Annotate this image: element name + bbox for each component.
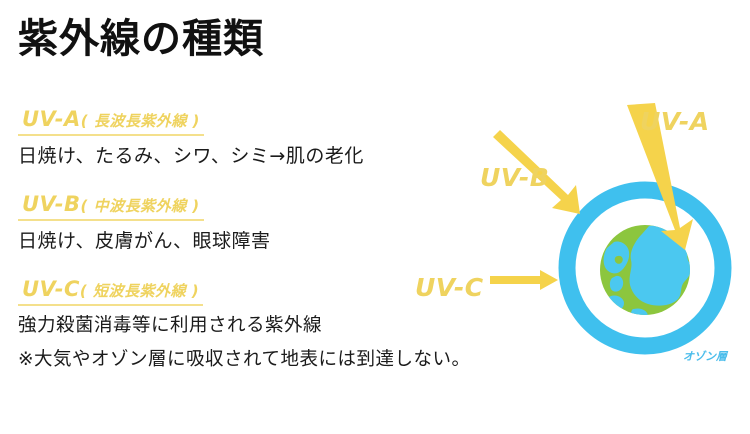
uv-subtitle-uvc: ( 短波長紫外線 ) [80, 282, 199, 300]
uv-heading-uvb: UV-B( 中波長紫外線 ) [18, 193, 204, 221]
diagram-label-ozone-layer: オゾン層 [683, 348, 727, 364]
diagram-label-uva: UV-A [640, 107, 710, 136]
uv-heading-uva: UV-A( 長波長紫外線 ) [18, 108, 204, 136]
uv-description-uvb-line-1: 日焼け、皮膚がん、眼球障害 [18, 227, 271, 256]
uv-code-uva: UV-A [22, 107, 81, 131]
uv-subtitle-uva: ( 長波長紫外線 ) [81, 112, 200, 130]
uv-earth-diagram: UV-A UV-B UV-C オゾン層 [400, 90, 750, 390]
uv-code-uvc: UV-C [22, 277, 80, 301]
uv-subtitle-uvb: ( 中波長紫外線 ) [81, 197, 200, 215]
uv-code-uvb: UV-B [22, 192, 81, 216]
uv-section-uva: UV-A( 長波長紫外線 ) 日焼け、たるみ、シワ、シミ→肌の老化 [18, 108, 364, 171]
uv-section-uvb: UV-B( 中波長紫外線 ) 日焼け、皮膚がん、眼球障害 [18, 193, 271, 256]
uvc-arrow [490, 270, 558, 290]
diagram-label-uvc: UV-C [415, 273, 484, 302]
slide-canvas: 紫外線の種類 UV-A( 長波長紫外線 ) 日焼け、たるみ、シワ、シミ→肌の老化… [0, 0, 750, 434]
uv-heading-uvc: UV-C( 短波長紫外線 ) [18, 278, 203, 306]
diagram-label-uvb: UV-B [480, 163, 549, 192]
uv-description-uva-line-1: 日焼け、たるみ、シワ、シミ→肌の老化 [18, 142, 364, 171]
page-title: 紫外線の種類 [18, 16, 264, 62]
